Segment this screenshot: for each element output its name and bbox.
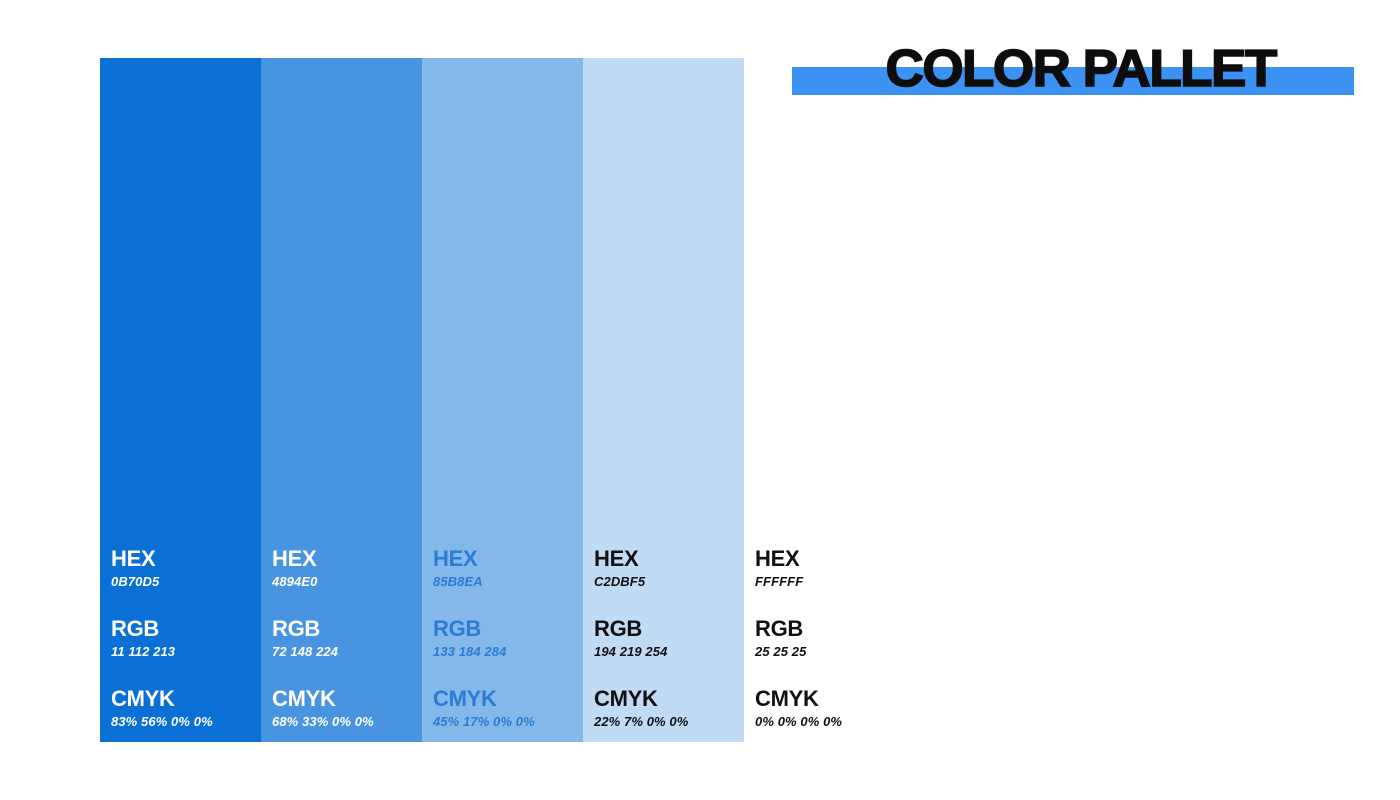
swatch-4-rgb-group: RGB 194 219 254 <box>594 616 744 660</box>
rgb-value: 72 148 224 <box>272 643 422 660</box>
swatch-2-hex-group: HEX 4894E0 <box>272 546 422 590</box>
swatch-3-hex-group: HEX 85B8EA <box>433 546 583 590</box>
cmyk-value: 0% 0% 0% 0% <box>755 713 915 730</box>
rgb-value: 11 112 213 <box>111 643 261 660</box>
swatch-3-info: HEX 85B8EA RGB 133 184 284 CMYK 45% 17% … <box>433 546 583 730</box>
swatch-5-cmyk-group: CMYK 0% 0% 0% 0% <box>755 686 915 730</box>
hex-value: 85B8EA <box>433 573 583 590</box>
hex-value: 4894E0 <box>272 573 422 590</box>
rgb-label: RGB <box>272 616 422 641</box>
swatch-4-info: HEX C2DBF5 RGB 194 219 254 CMYK 22% 7% 0… <box>594 546 744 730</box>
hex-label: HEX <box>594 546 744 571</box>
rgb-value: 25 25 25 <box>755 643 915 660</box>
hex-label: HEX <box>755 546 915 571</box>
swatch-1-info: HEX 0B70D5 RGB 11 112 213 CMYK 83% 56% 0… <box>111 546 261 730</box>
hex-label: HEX <box>433 546 583 571</box>
swatch-3-rgb-group: RGB 133 184 284 <box>433 616 583 660</box>
color-swatch-1[interactable]: HEX 0B70D5 RGB 11 112 213 CMYK 83% 56% 0… <box>100 58 261 742</box>
swatch-2-rgb-group: RGB 72 148 224 <box>272 616 422 660</box>
palette-canvas: COLOR PALLET HEX 0B70D5 RGB 11 112 213 C… <box>0 0 1400 800</box>
rgb-label: RGB <box>594 616 744 641</box>
color-swatch-2[interactable]: HEX 4894E0 RGB 72 148 224 CMYK 68% 33% 0… <box>261 58 422 742</box>
page-title: COLOR PALLET <box>792 40 1358 100</box>
swatch-1-hex-group: HEX 0B70D5 <box>111 546 261 590</box>
hex-label: HEX <box>111 546 261 571</box>
rgb-label: RGB <box>111 616 261 641</box>
hex-value: 0B70D5 <box>111 573 261 590</box>
color-swatch-5[interactable]: HEX FFFFFF RGB 25 25 25 CMYK 0% 0% 0% 0% <box>755 546 915 730</box>
cmyk-value: 45% 17% 0% 0% <box>433 713 583 730</box>
swatch-4-cmyk-group: CMYK 22% 7% 0% 0% <box>594 686 744 730</box>
cmyk-label: CMYK <box>433 686 583 711</box>
rgb-value: 133 184 284 <box>433 643 583 660</box>
swatch-2-info: HEX 4894E0 RGB 72 148 224 CMYK 68% 33% 0… <box>272 546 422 730</box>
swatch-1-rgb-group: RGB 11 112 213 <box>111 616 261 660</box>
cmyk-label: CMYK <box>111 686 261 711</box>
swatch-5-rgb-group: RGB 25 25 25 <box>755 616 915 660</box>
rgb-value: 194 219 254 <box>594 643 744 660</box>
hex-label: HEX <box>272 546 422 571</box>
rgb-label: RGB <box>755 616 915 641</box>
swatch-3-cmyk-group: CMYK 45% 17% 0% 0% <box>433 686 583 730</box>
swatch-5-hex-group: HEX FFFFFF <box>755 546 915 590</box>
swatch-2-cmyk-group: CMYK 68% 33% 0% 0% <box>272 686 422 730</box>
hex-value: C2DBF5 <box>594 573 744 590</box>
swatch-1-cmyk-group: CMYK 83% 56% 0% 0% <box>111 686 261 730</box>
swatch-strip: HEX 0B70D5 RGB 11 112 213 CMYK 83% 56% 0… <box>100 58 744 742</box>
color-swatch-4[interactable]: HEX C2DBF5 RGB 194 219 254 CMYK 22% 7% 0… <box>583 58 744 742</box>
cmyk-value: 83% 56% 0% 0% <box>111 713 261 730</box>
cmyk-value: 68% 33% 0% 0% <box>272 713 422 730</box>
cmyk-label: CMYK <box>755 686 915 711</box>
title-text: COLOR PALLET <box>792 40 1369 98</box>
cmyk-label: CMYK <box>594 686 744 711</box>
hex-value: FFFFFF <box>755 573 915 590</box>
rgb-label: RGB <box>433 616 583 641</box>
cmyk-label: CMYK <box>272 686 422 711</box>
cmyk-value: 22% 7% 0% 0% <box>594 713 744 730</box>
color-swatch-3[interactable]: HEX 85B8EA RGB 133 184 284 CMYK 45% 17% … <box>422 58 583 742</box>
swatch-4-hex-group: HEX C2DBF5 <box>594 546 744 590</box>
